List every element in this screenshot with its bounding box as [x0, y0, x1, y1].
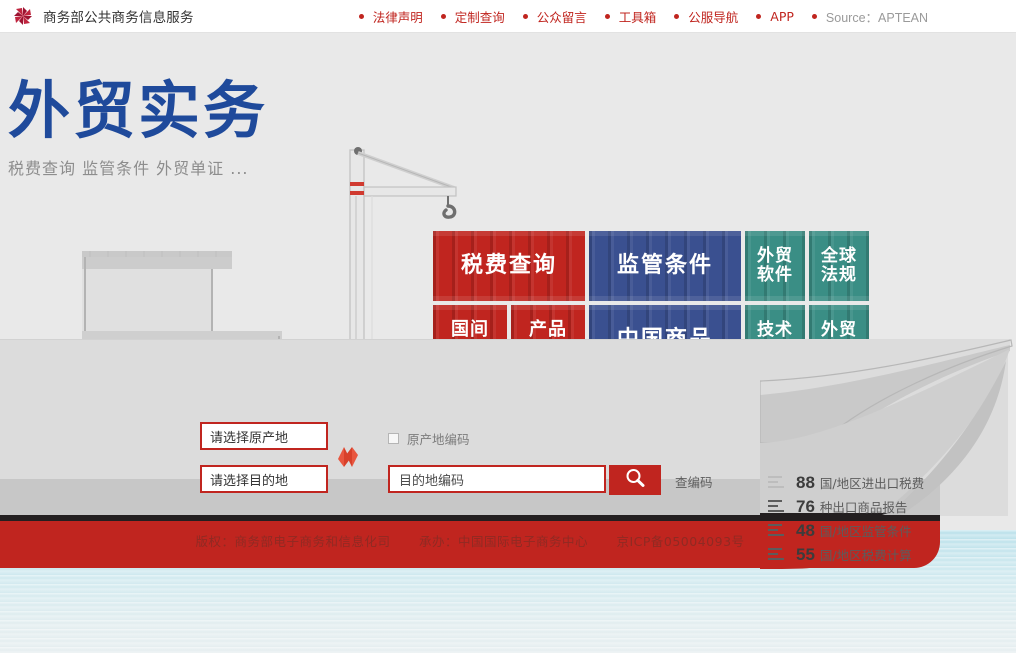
- tick-marks-icon: [768, 498, 790, 512]
- lookup-code-link[interactable]: 查编码: [675, 472, 713, 491]
- origin-code-checkbox[interactable]: [388, 433, 399, 444]
- container-label: 监管条件: [617, 254, 713, 279]
- destination-country-select[interactable]: 请选择目的地: [200, 465, 328, 493]
- destination-select-value: 请选择目的地: [210, 470, 288, 489]
- hero-scene: 外贸实务 税费查询 监管条件 外贸单证 ...: [0, 33, 1016, 653]
- brand-title: 商务部公共商务信息服务: [43, 6, 194, 26]
- footer-copyright: 版权：商务部电子商务和信息化司: [195, 534, 390, 549]
- bullet-icon: [674, 14, 679, 19]
- container-top-edge: [433, 231, 585, 236]
- tick-marks-icon: [768, 546, 790, 560]
- bullet-icon: [605, 14, 610, 19]
- nav-item-custom-query[interactable]: 定制查询: [441, 7, 505, 26]
- site-header: 商务部公共商务信息服务 法律声明 定制查询 公众留言 工具箱 公服导航: [0, 0, 1016, 33]
- destination-code-value: 目的地编码: [399, 470, 464, 489]
- container-top-edge: [745, 231, 805, 236]
- nav-item-source[interactable]: Source：APTEAN: [812, 7, 928, 26]
- container-regulatory-conditions[interactable]: 监管条件: [589, 231, 741, 301]
- page-title: 外贸实务: [8, 78, 268, 143]
- container-global-regulations[interactable]: 全球法规: [809, 231, 869, 301]
- tick-marks-icon: [768, 522, 790, 536]
- footer-operator: 承办：中国国际电子商务中心: [419, 534, 588, 549]
- origin-code-checkbox-row[interactable]: 原产地编码: [388, 429, 470, 448]
- stats-list: 88 国/地区进出口税费 76 种出口商品报告 48 国/地区监管条件 55 国…: [768, 473, 924, 569]
- container-top-edge: [589, 231, 741, 236]
- origin-country-select[interactable]: 请选择原产地: [200, 422, 328, 450]
- container-top-edge: [809, 231, 869, 236]
- page-root: 商务部公共商务信息服务 法律声明 定制查询 公众留言 工具箱 公服导航: [0, 0, 1016, 653]
- nav-label: 公服导航: [688, 7, 738, 26]
- container-bottom-edge: [589, 296, 741, 301]
- brand[interactable]: 商务部公共商务信息服务: [0, 5, 194, 27]
- hero-subtitle: 税费查询 监管条件 外贸单证 ...: [8, 155, 268, 179]
- container-top-edge: [809, 305, 869, 310]
- stat-text: 国/地区进出口税费: [820, 473, 924, 492]
- origin-select-value: 请选择原产地: [210, 427, 288, 446]
- nav-label: 公众留言: [537, 7, 587, 26]
- container-label: 外贸软件: [757, 247, 793, 285]
- container-label: 全球法规: [821, 247, 857, 285]
- nav-label: 法律声明: [373, 7, 423, 26]
- nav-item-toolbox[interactable]: 工具箱: [605, 7, 657, 26]
- nav-label: 定制查询: [455, 7, 505, 26]
- origin-code-label: 原产地编码: [407, 429, 470, 448]
- search-button[interactable]: [609, 465, 661, 495]
- stat-row: 88 国/地区进出口税费: [768, 473, 924, 493]
- stat-number: 88: [796, 473, 815, 493]
- container-row-1: 税费查询 监管条件 外贸软件 全球: [433, 231, 869, 301]
- nav-label: APP: [770, 9, 794, 24]
- tick-marks-icon: [768, 474, 790, 488]
- bullet-icon: [756, 14, 761, 19]
- nav-label: 工具箱: [619, 7, 657, 26]
- pinwheel-logo-icon: [12, 5, 34, 27]
- stat-row: 76 种出口商品报告: [768, 497, 924, 517]
- bullet-icon: [523, 14, 528, 19]
- bullet-icon: [441, 14, 446, 19]
- swap-vertical-icon: [336, 458, 360, 475]
- stat-text: 国/地区税费计算: [820, 545, 912, 564]
- top-navigation: 法律声明 定制查询 公众留言 工具箱 公服导航 APP: [359, 7, 946, 26]
- magnifier-icon: [624, 467, 646, 494]
- container-bottom-edge: [745, 296, 805, 301]
- stat-text: 国/地区监管条件: [820, 521, 912, 540]
- destination-code-input[interactable]: 目的地编码: [388, 465, 606, 493]
- container-top-edge: [433, 305, 507, 310]
- stat-row: 55 国/地区税费计算: [768, 545, 924, 565]
- hero-text-block: 外贸实务 税费查询 监管条件 外贸单证 ...: [8, 78, 268, 179]
- container-top-edge: [589, 305, 741, 310]
- stat-number: 48: [796, 521, 815, 541]
- container-bottom-edge: [809, 296, 869, 301]
- container-bottom-edge: [433, 296, 585, 301]
- stat-number: 55: [796, 545, 815, 565]
- container-tax-query[interactable]: 税费查询: [433, 231, 585, 301]
- nav-item-legal[interactable]: 法律声明: [359, 7, 423, 26]
- swap-origin-destination-button[interactable]: [336, 443, 360, 471]
- nav-item-public-message[interactable]: 公众留言: [523, 7, 587, 26]
- container-top-edge: [745, 305, 805, 310]
- container-label: 税费查询: [461, 254, 557, 279]
- nav-item-app[interactable]: APP: [756, 9, 794, 24]
- nav-item-service-nav[interactable]: 公服导航: [674, 7, 738, 26]
- stat-text: 种出口商品报告: [820, 497, 908, 516]
- stat-row: 48 国/地区监管条件: [768, 521, 924, 541]
- nav-label: Source：APTEAN: [826, 7, 928, 26]
- stat-number: 76: [796, 497, 815, 517]
- footer-icp[interactable]: 京ICP备05004093号: [616, 534, 744, 549]
- bullet-icon: [359, 14, 364, 19]
- container-trade-software[interactable]: 外贸软件: [745, 231, 805, 301]
- bullet-icon: [812, 14, 817, 19]
- container-top-edge: [511, 305, 585, 310]
